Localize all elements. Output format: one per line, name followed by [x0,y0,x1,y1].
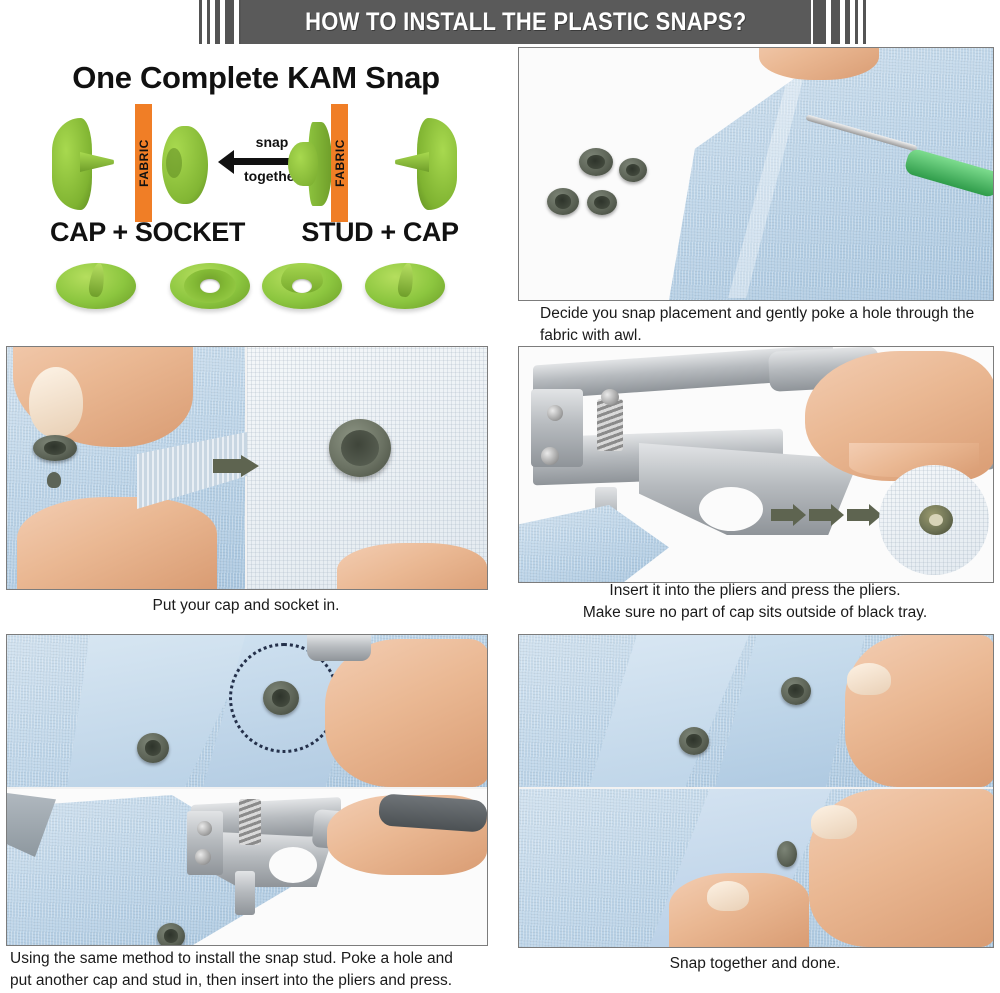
screw-icon [541,447,559,465]
snap-inner [788,684,804,699]
spring-cap [601,389,619,405]
thumbnail [707,881,749,911]
diagram-title: One Complete KAM Snap [10,60,502,96]
thumbnail [811,805,857,839]
pliers-spring [597,399,623,451]
caption-awl: Decide you snap placement and gently pok… [540,303,990,348]
snap-prong [47,472,61,488]
label-stud-cap: STUD + CAP [275,217,485,248]
arrow-shaft [771,509,793,521]
snap-inner [555,194,572,208]
caption-line-2: Make sure no part of cap sits outside of… [518,602,992,624]
stripe [813,0,826,44]
header-stripes-right [813,0,866,44]
photo-panel-cap-socket [6,346,488,590]
snap-cap-in-hand [33,435,77,461]
arrow-shaft [847,509,869,521]
arrow-shaft [809,509,831,521]
screw-icon [547,405,563,421]
fabric-label-right: FABRIC [333,139,347,187]
part-cap-top-view [56,257,136,313]
snap-inner [44,441,67,455]
cap-side-view-left [52,118,114,210]
hand [325,639,488,787]
caption-done: Snap together and done. [518,953,992,975]
pliers-body-hole [269,847,317,883]
caption-line-2: put another cap and stud in, then insert… [10,970,480,992]
snap-piece [579,148,613,176]
caption-cap-socket: Put your cap and socket in. [6,595,486,617]
socket-hole [200,279,220,293]
part-socket-top-view [170,257,250,313]
fabric-bar-right: FABRIC [331,104,348,222]
stripe [855,0,858,44]
caption-stud: Using the same method to install the sna… [10,948,480,993]
stripe [845,0,850,44]
hand [845,635,994,787]
screw-icon [195,849,211,865]
stripe [215,0,220,44]
snap-inner [587,155,605,170]
arrow-shaft [213,459,243,473]
photo-panel-done [518,634,994,948]
arrows-sequence [771,503,881,527]
snap-piece [619,158,647,182]
arrow-head [793,504,806,526]
screw-icon [197,821,212,836]
stud-knob [288,142,318,186]
snap-socket-half [679,727,709,755]
installed-snap [137,733,169,763]
header-title-box: HOW TO INSTALL THE PLASTIC SNAPS? [241,0,811,44]
hand-lower [17,497,217,589]
socket-hole [341,430,379,466]
socket-side-view [162,126,208,204]
caption-pliers: Insert it into the pliers and press the … [518,580,992,625]
snap-stud-half [781,677,811,705]
snap-piece [587,190,617,215]
installed-snap [157,923,185,946]
photo-panel-awl [518,47,994,301]
cap-prong [80,152,114,172]
page-title: HOW TO INSTALL THE PLASTIC SNAPS? [305,8,746,37]
part-cap-top-view [365,257,445,313]
stripe [207,0,210,44]
diagram-labels-row: CAP + SOCKET STUD + CAP [10,217,502,248]
installed-socket [329,419,391,477]
diagram-parts-row [10,257,502,321]
pliers-spring [239,799,261,845]
cap-side-view-right [395,118,457,210]
cap-prong [395,152,429,172]
stud-hole [292,279,312,293]
arrow-head [241,455,259,477]
snap-inner [164,929,179,943]
stripe [831,0,840,44]
arrow-right-icon [213,455,263,477]
kam-snap-diagram: One Complete KAM Snap FABRIC snap togeth… [10,52,502,322]
snap-center [929,514,943,526]
hand [337,543,487,590]
snap-piece [547,188,579,215]
diagram-exploded-row: FABRIC snap together FABRIC [10,104,502,209]
arrow-head [831,504,844,526]
photo-panel-stud [6,634,488,946]
thumbnail [847,663,891,695]
fabric-label-left: FABRIC [137,139,151,187]
snap-inner [626,164,641,176]
stripe [863,0,866,44]
installed-snap [919,505,953,535]
snap-closed [777,841,797,867]
label-cap-socket: CAP + SOCKET [20,217,275,248]
snap-inner [594,196,610,209]
part-stud-top-view [262,257,342,313]
fabric-bar-left: FABRIC [135,104,152,222]
pliers-edge [307,635,371,661]
caption-line-1: Insert it into the pliers and press the … [518,580,992,602]
stud-side-view [288,122,334,206]
stripe [225,0,234,44]
stripe [199,0,202,44]
snap-inner [145,740,162,756]
thumbnail [29,367,83,437]
pliers-body-hole [699,487,763,531]
highlighted-snap [263,681,299,715]
pliers-die-post [235,871,255,915]
photo-panel-pliers [518,346,994,583]
snap-inner [686,734,702,749]
snap-inner [272,689,291,707]
header-banner: HOW TO INSTALL THE PLASTIC SNAPS? [0,0,1000,44]
caption-line-1: Using the same method to install the sna… [10,948,480,970]
